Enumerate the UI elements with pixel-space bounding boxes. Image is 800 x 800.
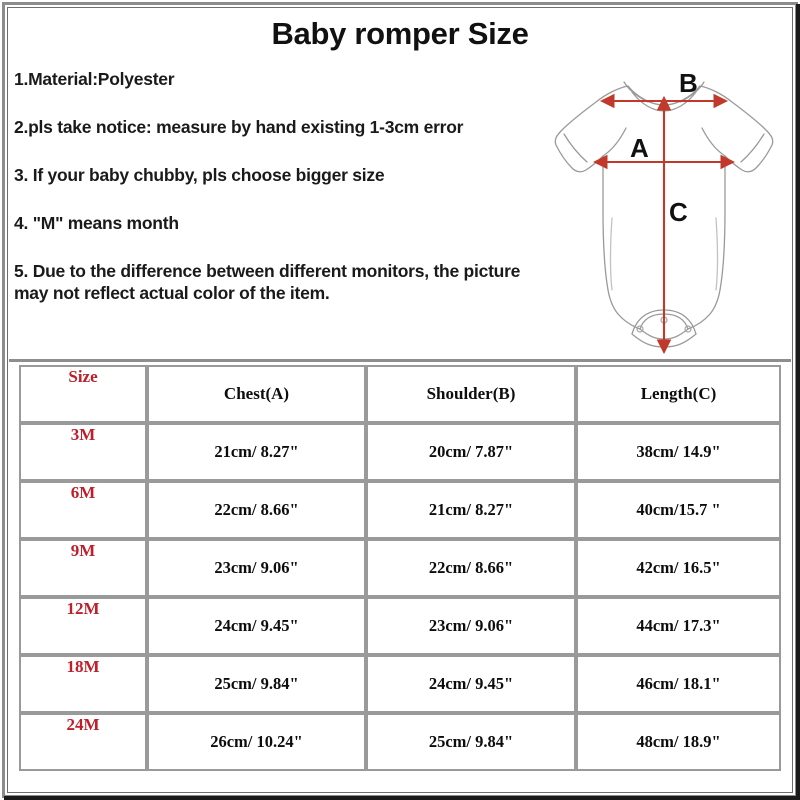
note-item-2: 2.pls take notice: measure by hand exist… [14,116,534,138]
frame-shadow-right [796,4,800,800]
note-item-4: 4. "M" means month [14,212,534,234]
table-row: 6M 22cm/ 8.66" 21cm/ 8.27" 40cm/15.7 " [19,481,781,539]
row-length: 48cm/ 18.9" [576,713,781,771]
row-shoulder: 21cm/ 8.27" [366,481,576,539]
row-chest: 25cm/ 9.84" [147,655,366,713]
table-row: 9M 23cm/ 9.06" 22cm/ 8.66" 42cm/ 16.5" [19,539,781,597]
notes-list: 1.Material:Polyester 2.pls take notice: … [14,68,534,304]
size-table: Size Chest(A) Shoulder(B) Length(C) 3M 2… [19,365,781,771]
note-item-5: 5. Due to the difference between differe… [14,260,534,304]
header-size: Size [19,365,147,423]
row-chest: 23cm/ 9.06" [147,539,366,597]
header-chest: Chest(A) [147,365,366,423]
row-shoulder: 22cm/ 8.66" [366,539,576,597]
row-size-label: 12M [19,597,147,655]
row-size-label: 6M [19,481,147,539]
table-row: 18M 25cm/ 9.84" 24cm/ 9.45" 46cm/ 18.1" [19,655,781,713]
baby-romper-diagram-icon: B A C [540,58,788,358]
table-row: 24M 26cm/ 10.24" 25cm/ 9.84" 48cm/ 18.9" [19,713,781,771]
table-row: 12M 24cm/ 9.45" 23cm/ 9.06" 44cm/ 17.3" [19,597,781,655]
size-table-section: Size Chest(A) Shoulder(B) Length(C) 3M 2… [9,359,791,771]
row-length: 40cm/15.7 " [576,481,781,539]
header-shoulder: Shoulder(B) [366,365,576,423]
row-length: 44cm/ 17.3" [576,597,781,655]
row-length: 42cm/ 16.5" [576,539,781,597]
svg-text:B: B [679,68,698,98]
row-size-label: 18M [19,655,147,713]
note-item-3: 3. If your baby chubby, pls choose bigge… [14,164,534,186]
svg-text:A: A [630,133,649,163]
row-size-label: 9M [19,539,147,597]
frame-shadow-bottom [4,796,800,800]
section-divider [9,359,791,362]
row-chest: 21cm/ 8.27" [147,423,366,481]
table-row: 3M 21cm/ 8.27" 20cm/ 7.87" 38cm/ 14.9" [19,423,781,481]
row-length: 46cm/ 18.1" [576,655,781,713]
row-shoulder: 25cm/ 9.84" [366,713,576,771]
note-item-1: 1.Material:Polyester [14,68,534,90]
table-header-row: Size Chest(A) Shoulder(B) Length(C) [19,365,781,423]
row-chest: 26cm/ 10.24" [147,713,366,771]
size-chart-page: Baby romper Size 1.Material:Polyester 2.… [0,0,800,800]
row-shoulder: 24cm/ 9.45" [366,655,576,713]
svg-text:C: C [669,197,688,227]
row-size-label: 24M [19,713,147,771]
row-size-label: 3M [19,423,147,481]
header-length: Length(C) [576,365,781,423]
row-chest: 22cm/ 8.66" [147,481,366,539]
row-length: 38cm/ 14.9" [576,423,781,481]
row-chest: 24cm/ 9.45" [147,597,366,655]
row-shoulder: 20cm/ 7.87" [366,423,576,481]
row-shoulder: 23cm/ 9.06" [366,597,576,655]
page-title: Baby romper Size [0,16,800,52]
